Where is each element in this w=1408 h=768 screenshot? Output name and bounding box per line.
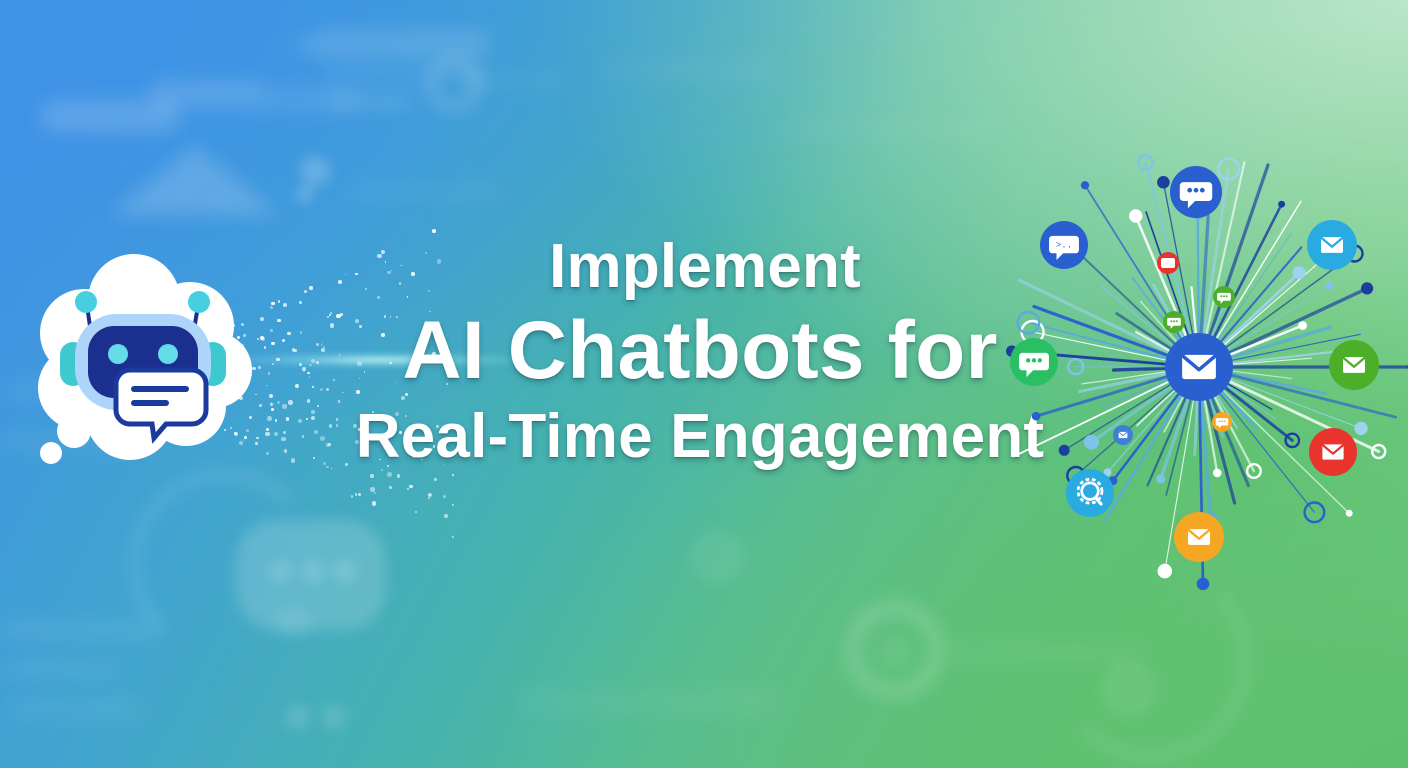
network-node-envelope-icon <box>1307 220 1357 270</box>
headline-line-3: Real-Time Engagement <box>330 406 1070 468</box>
network-hub <box>1165 333 1233 401</box>
network-node-message-small-icon <box>1212 412 1232 432</box>
communication-network-graphic: >.. <box>990 150 1408 590</box>
network-node-envelope-icon <box>1329 340 1379 390</box>
network-node-message-icon <box>1213 286 1235 308</box>
chatbot-thought-cloud-icon <box>18 248 268 478</box>
network-node-envelope-small-icon <box>1113 425 1133 445</box>
network-node-envelope-icon <box>1309 428 1357 476</box>
network-node-gear-search-icon <box>1066 469 1114 517</box>
ai-chatbot-mascot <box>18 248 268 478</box>
network-node-message-icon <box>1163 311 1185 333</box>
marketing-banner: Implement AI Chatbots for Real-Time Enga… <box>0 0 1408 768</box>
network-node-chat-bubble-code-icon: >.. <box>1040 221 1088 269</box>
network-node-chat-bubble-dots-icon <box>1170 166 1222 218</box>
network-node-envelope-icon <box>1174 512 1224 562</box>
network-node-chat-bubble-dots-icon <box>1010 338 1058 386</box>
headline-block: Implement AI Chatbots for Real-Time Enga… <box>330 236 1070 468</box>
headline-line-2: AI Chatbots for <box>330 310 1070 392</box>
network-node-keyboard-icon <box>1157 252 1179 274</box>
headline-line-1: Implement <box>330 236 1070 298</box>
svg-text:>..: >.. <box>1056 239 1072 250</box>
